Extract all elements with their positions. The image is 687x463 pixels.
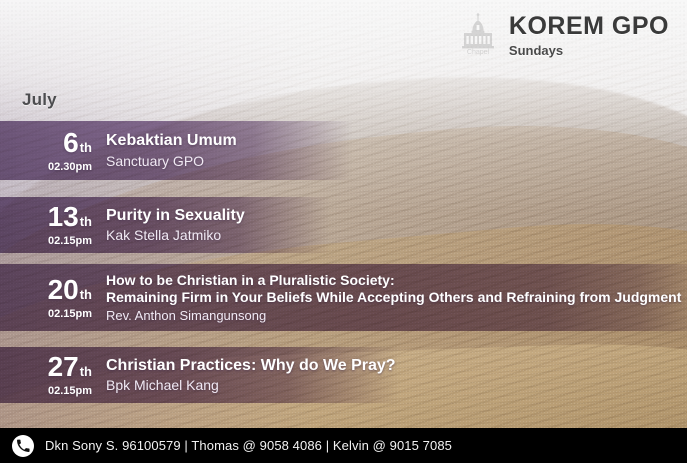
event-1-title-line-1: Kebaktian Umum (106, 132, 687, 151)
event-4-speaker: Bpk Michael Kang (106, 377, 687, 393)
event-4-ordinal: th (80, 364, 92, 379)
event-2-ordinal: th (80, 214, 92, 229)
event-4-text: Christian Practices: Why do We Pray? Bpk… (92, 357, 687, 394)
event-2-date: 13th 02.15pm (18, 203, 92, 247)
event-1-time: 02.30pm (48, 161, 92, 173)
event-1-day: 6th (63, 129, 92, 157)
contact-footer: Dkn Sony S. 96100579 | Thomas @ 9058 408… (0, 428, 687, 463)
event-row-1[interactable]: 6th 02.30pm Kebaktian Umum Sanctuary GPO (0, 121, 687, 180)
event-3-title-line-1: How to be Christian in a Pluralistic Soc… (106, 272, 687, 289)
event-1-text: Kebaktian Umum Sanctuary GPO (92, 132, 687, 169)
event-1-ordinal: th (80, 140, 92, 155)
event-2-title-line-1: Purity in Sexuality (106, 207, 687, 226)
event-1-date: 6th 02.30pm (18, 129, 92, 173)
poster-header: Chapel KOREM GPO Sundays (455, 12, 669, 58)
brand-title: KOREM GPO (509, 14, 669, 39)
phone-icon (12, 435, 34, 457)
event-row-2[interactable]: 13th 02.15pm Purity in Sexuality Kak Ste… (0, 197, 687, 253)
event-4-time: 02.15pm (48, 385, 92, 397)
event-2-time: 02.15pm (48, 235, 92, 247)
chapel-icon: Chapel (455, 12, 501, 58)
contact-list: Dkn Sony S. 96100579 | Thomas @ 9058 408… (45, 438, 452, 453)
event-1-speaker: Sanctuary GPO (106, 153, 687, 169)
event-3-ordinal: th (80, 287, 92, 302)
event-poster: Chapel KOREM GPO Sundays July 6th 02.30p… (0, 0, 687, 463)
event-3-day: 20th (48, 276, 92, 304)
event-row-4[interactable]: 27th 02.15pm Christian Practices: Why do… (0, 347, 687, 403)
event-4-date: 27th 02.15pm (18, 353, 92, 397)
event-3-date: 20th 02.15pm (18, 276, 92, 320)
event-row-3[interactable]: 20th 02.15pm How to be Christian in a Pl… (0, 264, 687, 331)
event-3-time: 02.15pm (48, 308, 92, 320)
event-4-day: 27th (48, 353, 92, 381)
month-label: July (22, 90, 57, 110)
event-4-title-line-1: Christian Practices: Why do We Pray? (106, 357, 687, 376)
event-3-title-line-2: Remaining Firm in Your Beliefs While Acc… (106, 289, 687, 306)
event-3-text: How to be Christian in a Pluralistic Soc… (92, 272, 687, 322)
brand-block: KOREM GPO Sundays (509, 14, 669, 57)
event-3-speaker: Rev. Anthon Simangunsong (106, 308, 687, 323)
event-2-text: Purity in Sexuality Kak Stella Jatmiko (92, 207, 687, 244)
event-2-day: 13th (48, 203, 92, 231)
event-2-speaker: Kak Stella Jatmiko (106, 227, 687, 243)
brand-subtitle: Sundays (509, 44, 669, 57)
chapel-logo-caption: Chapel (467, 49, 490, 56)
